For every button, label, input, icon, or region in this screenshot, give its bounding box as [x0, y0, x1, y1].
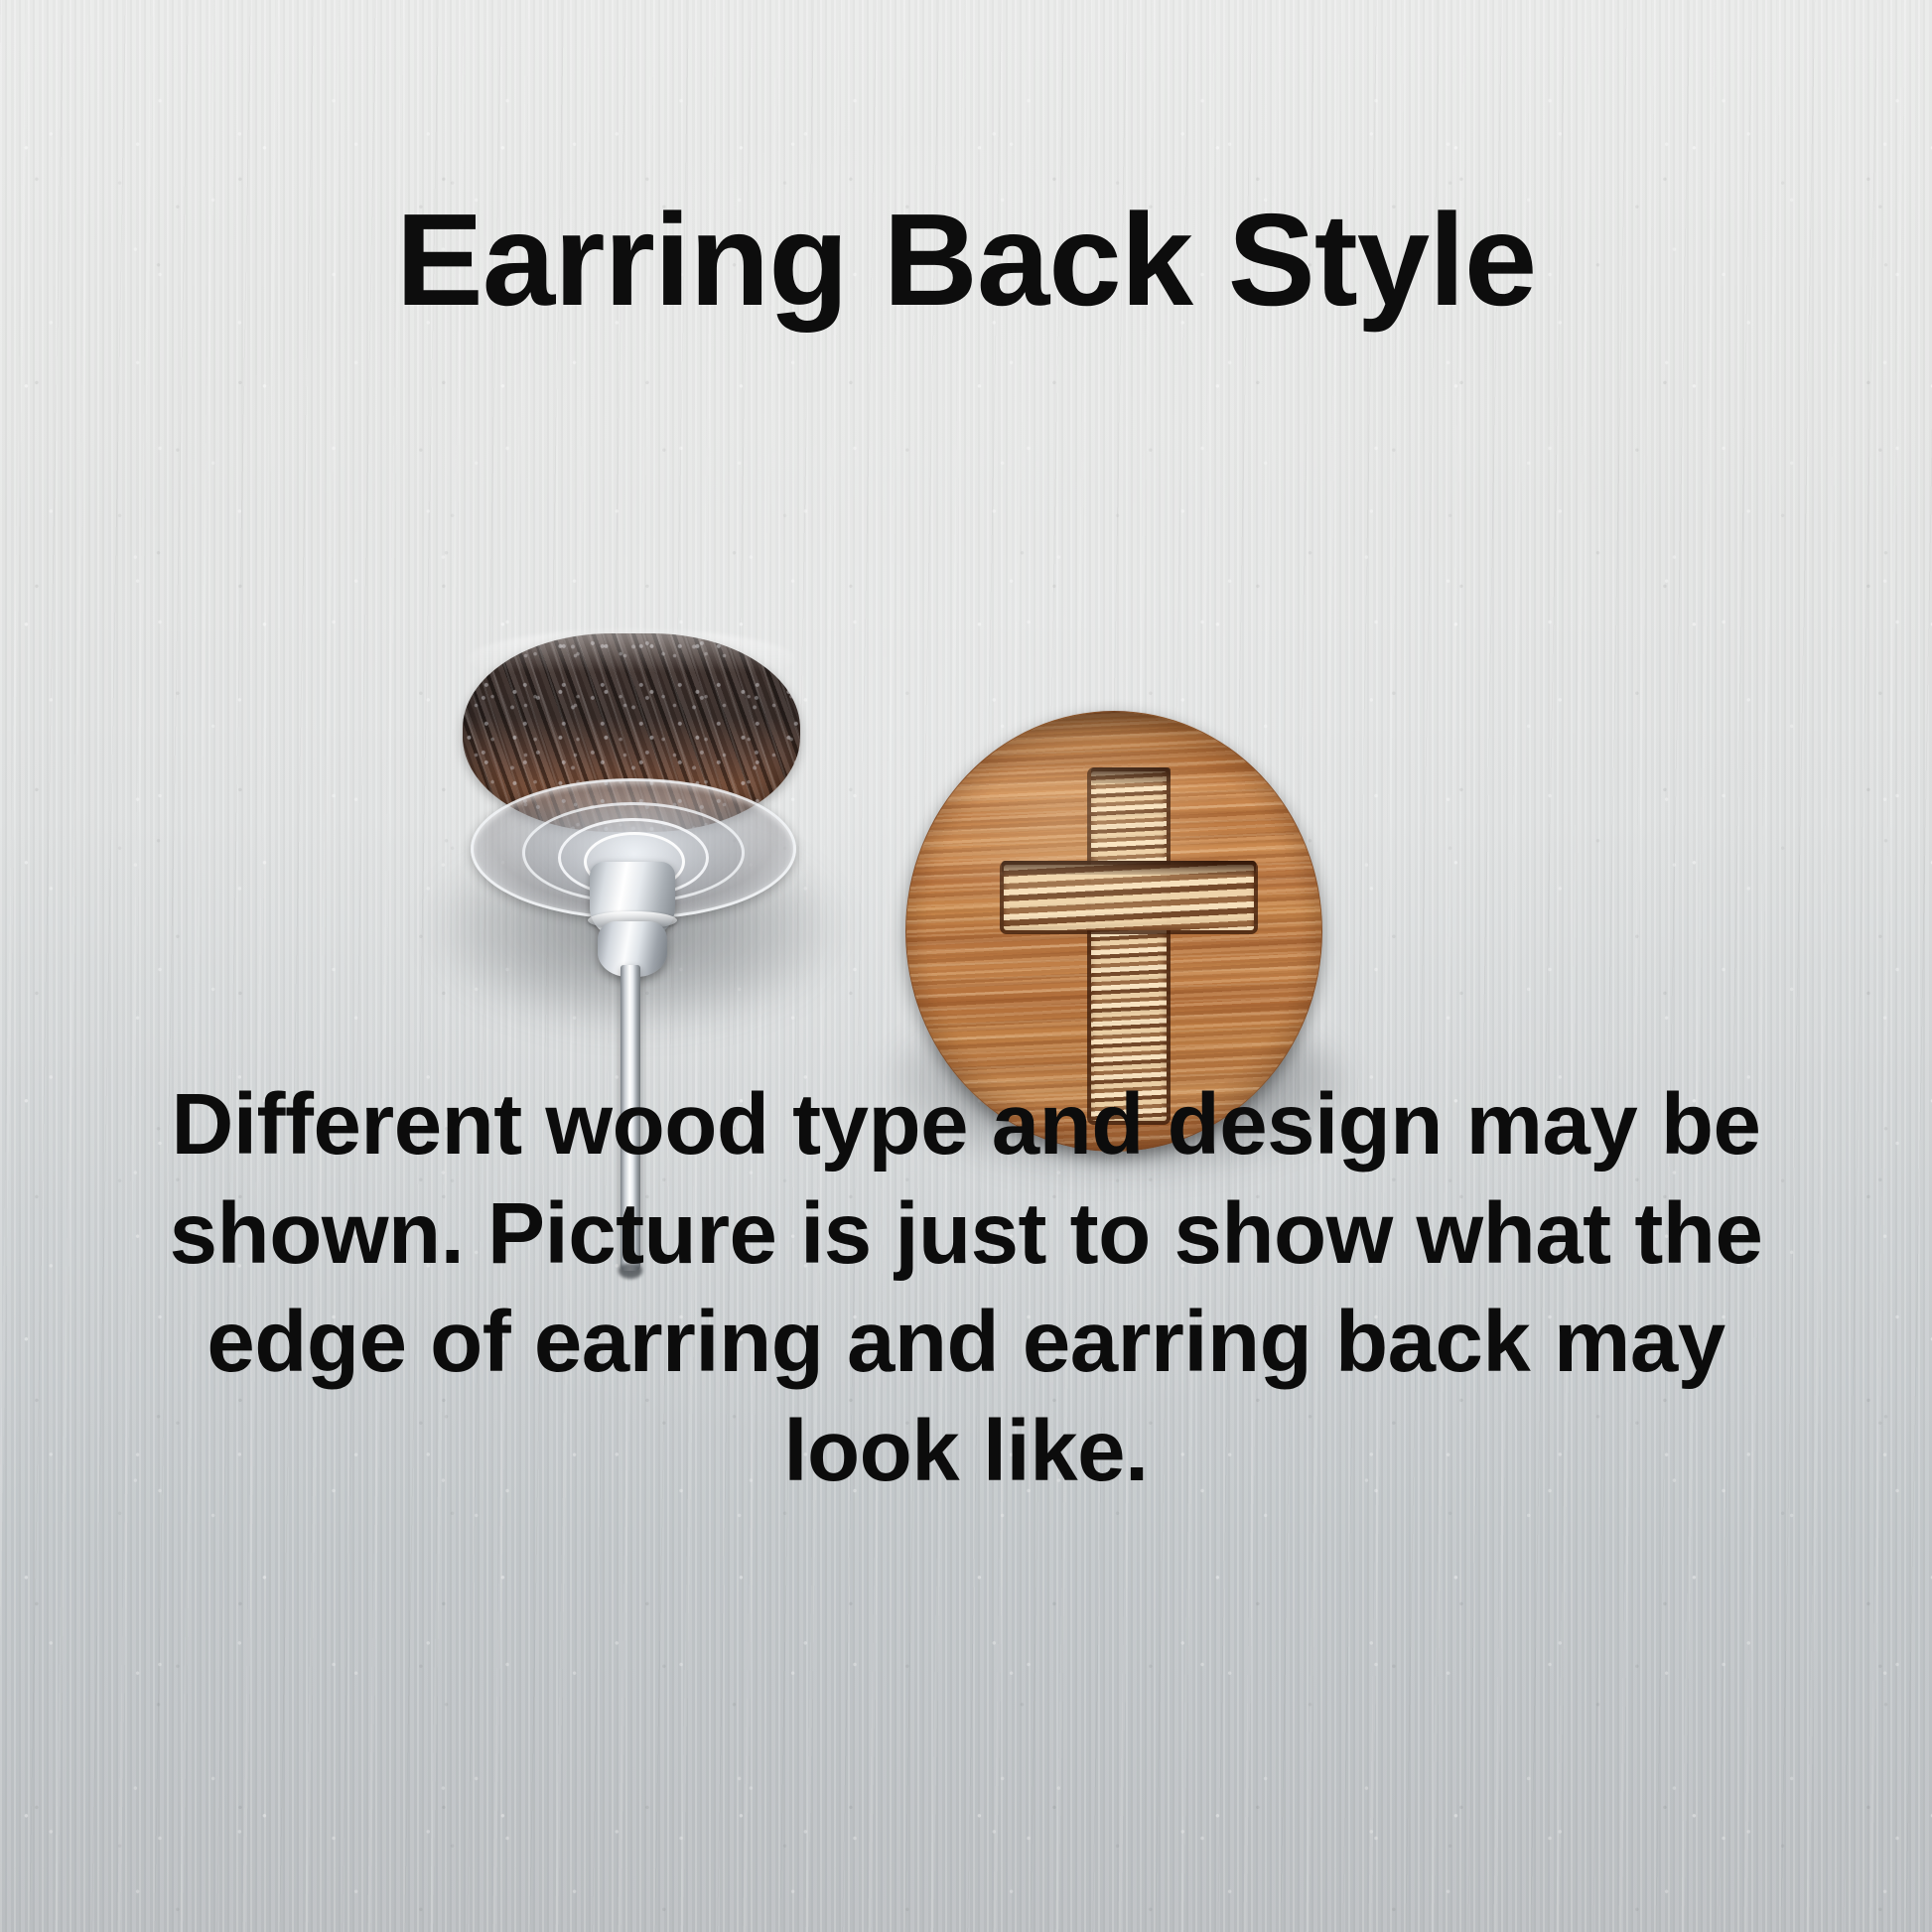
caption-line-4: look like.: [50, 1397, 1882, 1506]
earring-back-style-image: Earring Back Style: [0, 0, 1932, 1932]
page-title: Earring Back Style: [0, 195, 1932, 326]
caption-line-2: shown. Picture is just to show what the: [50, 1179, 1882, 1289]
dark-wood-top-highlight: [469, 629, 794, 689]
caption-line-1: Different wood type and design may be: [50, 1070, 1882, 1179]
caption-text: Different wood type and design may be sh…: [50, 1070, 1882, 1505]
caption-line-3: edge of earring and earring back may: [50, 1288, 1882, 1397]
